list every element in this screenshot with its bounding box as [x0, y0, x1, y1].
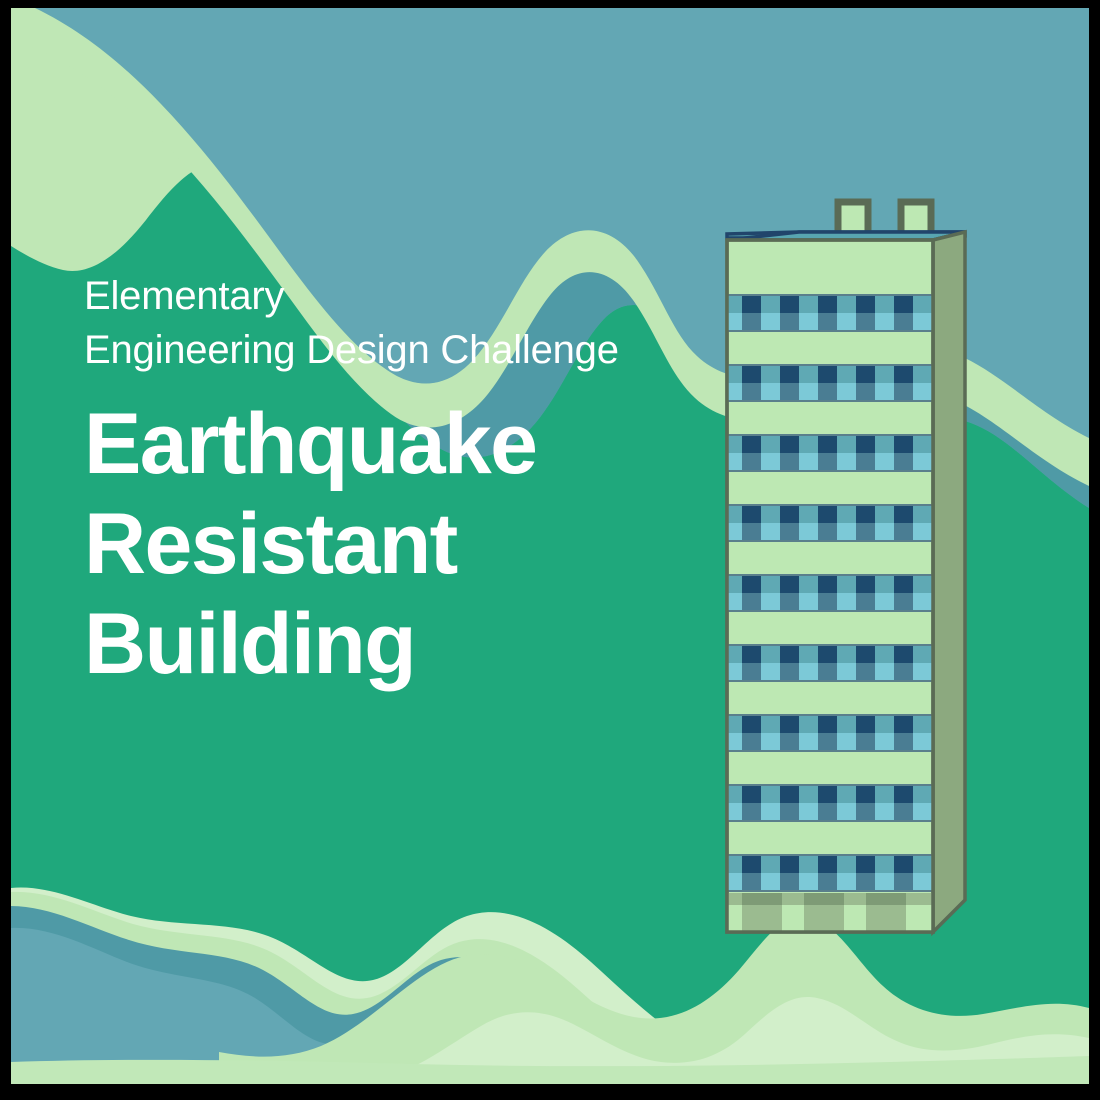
- building-side-face: [933, 232, 965, 932]
- window-band: [727, 715, 933, 751]
- window-band: [727, 645, 933, 681]
- window-band: [727, 575, 933, 611]
- poster-canvas: Elementary Engineering Design Challenge …: [0, 0, 1100, 1100]
- poster-frame: Elementary Engineering Design Challenge …: [11, 8, 1089, 1084]
- window-band: [727, 435, 933, 471]
- poster-artboard: Elementary Engineering Design Challenge …: [11, 8, 1089, 1084]
- building-base-band: [727, 893, 933, 932]
- poster-text-block: Elementary Engineering Design Challenge …: [84, 270, 744, 694]
- page-title: Earthquake Resistant Building: [84, 395, 744, 694]
- window-band: [727, 505, 933, 541]
- poster-subtitle: Elementary Engineering Design Challenge: [84, 270, 744, 377]
- window-band: [727, 855, 933, 891]
- window-band: [727, 295, 933, 331]
- window-band: [727, 365, 933, 401]
- window-band: [727, 785, 933, 821]
